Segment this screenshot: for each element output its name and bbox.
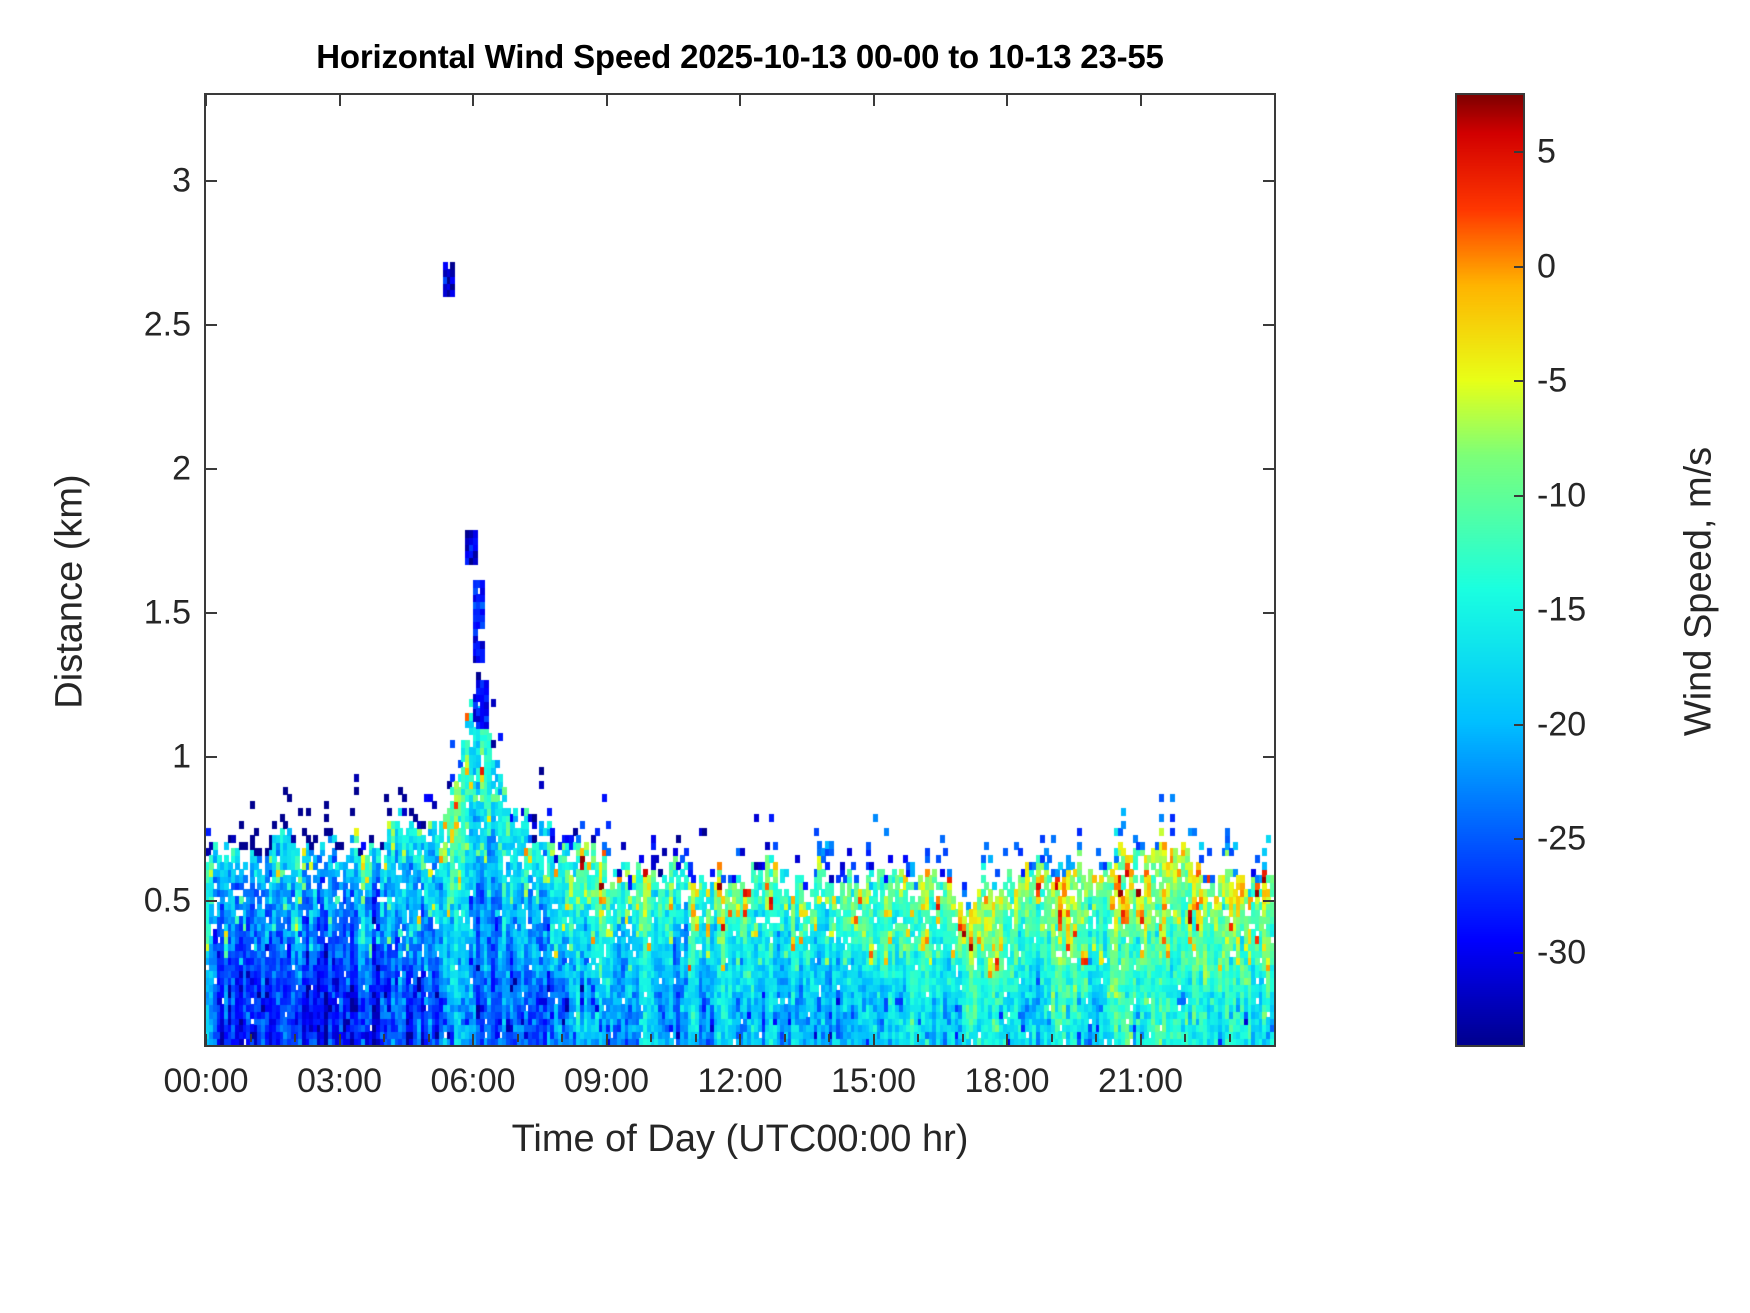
x-axis-minor-tick [428,1034,430,1042]
x-axis-minor-tick [1051,1034,1053,1042]
colorbar-tick-mark [1514,380,1525,382]
x-axis-tick-mark [606,1034,608,1047]
y-axis-tick-label: 0.5 [144,882,191,921]
colorbar[interactable] [1455,93,1525,1047]
colorbar-tick-mark [1514,838,1525,840]
y-axis-tick-mark [204,468,217,470]
colorbar-tick-mark [1514,266,1525,268]
y-axis-tick-label: 2.5 [144,306,191,345]
x-axis-tick-mark-top [606,93,608,106]
x-axis-tick-mark-top [873,93,875,106]
colorbar-label: Wind Speed, m/s [1678,382,1721,802]
x-axis-tick-mark [472,1034,474,1047]
colorbar-tick-mark [1514,495,1525,497]
x-axis-label: Time of Day (UTC00:00 hr) [204,1118,1276,1161]
y-axis-tick-mark [204,180,217,182]
x-axis-minor-tick [517,1034,519,1042]
x-axis-tick-mark-top [739,93,741,106]
x-axis-minor-tick [1184,1034,1186,1042]
x-axis-tick-label: 03:00 [297,1062,382,1101]
x-axis-minor-tick [250,1034,252,1042]
x-axis-minor-tick [962,1034,964,1042]
y-axis-tick-label: 3 [172,162,191,201]
colorbar-tick-label: -5 [1537,362,1567,401]
y-axis-tick-mark-right [1263,324,1276,326]
x-axis-tick-label: 06:00 [430,1062,515,1101]
x-axis-tick-label: 00:00 [163,1062,248,1101]
wind-speed-heatmap [206,95,1274,1045]
page-title: Horizontal Wind Speed 2025-10-13 00-00 t… [204,38,1276,76]
y-axis-tick-mark-right [1263,756,1276,758]
colorbar-tick-mark [1514,952,1525,954]
y-axis-tick-label: 2 [172,450,191,489]
y-axis-tick-label: 1.5 [144,594,191,633]
y-axis-tick-mark [204,756,217,758]
y-axis-label: Distance (km) [49,382,92,802]
y-axis-tick-mark-right [1263,468,1276,470]
x-axis-tick-mark-top [1006,93,1008,106]
x-axis-tick-mark [873,1034,875,1047]
x-axis-minor-tick [917,1034,919,1042]
x-axis-minor-tick [828,1034,830,1042]
x-axis-minor-tick [1229,1034,1231,1042]
y-axis-tick-mark-right [1263,900,1276,902]
x-axis-tick-mark [1006,1034,1008,1047]
figure-canvas: Horizontal Wind Speed 2025-10-13 00-00 t… [0,0,1750,1313]
x-axis-minor-tick [784,1034,786,1042]
x-axis-tick-label: 15:00 [831,1062,916,1101]
colorbar-tick-mark [1514,151,1525,153]
x-axis-tick-label: 09:00 [564,1062,649,1101]
y-axis-tick-mark-right [1263,180,1276,182]
colorbar-tick-label: -15 [1537,591,1586,630]
y-axis-tick-mark-right [1263,612,1276,614]
colorbar-tick-label: -30 [1537,934,1586,973]
colorbar-tick-label: -25 [1537,819,1586,858]
plot-axes[interactable] [204,93,1276,1047]
x-axis-minor-tick [561,1034,563,1042]
x-axis-tick-label: 18:00 [964,1062,1049,1101]
x-axis-minor-tick [294,1034,296,1042]
colorbar-gradient [1457,95,1523,1045]
x-axis-tick-mark [739,1034,741,1047]
x-axis-tick-mark-top [472,93,474,106]
colorbar-tick-label: 5 [1537,133,1556,172]
colorbar-tick-label: -20 [1537,705,1586,744]
x-axis-tick-mark-top [205,93,207,106]
colorbar-tick-label: -10 [1537,476,1586,515]
y-axis-tick-mark [204,324,217,326]
y-axis-tick-mark [204,900,217,902]
x-axis-minor-tick [383,1034,385,1042]
y-axis-tick-mark [204,612,217,614]
x-axis-minor-tick [1095,1034,1097,1042]
y-axis-tick-label: 1 [172,738,191,777]
colorbar-tick-mark [1514,609,1525,611]
colorbar-tick-label: 0 [1537,247,1556,286]
x-axis-tick-mark [205,1034,207,1047]
x-axis-tick-label: 21:00 [1098,1062,1183,1101]
x-axis-minor-tick [650,1034,652,1042]
x-axis-tick-mark [339,1034,341,1047]
x-axis-tick-mark-top [339,93,341,106]
x-axis-tick-label: 12:00 [697,1062,782,1101]
x-axis-tick-mark [1140,1034,1142,1047]
colorbar-tick-mark [1514,724,1525,726]
x-axis-tick-mark-top [1140,93,1142,106]
x-axis-minor-tick [695,1034,697,1042]
